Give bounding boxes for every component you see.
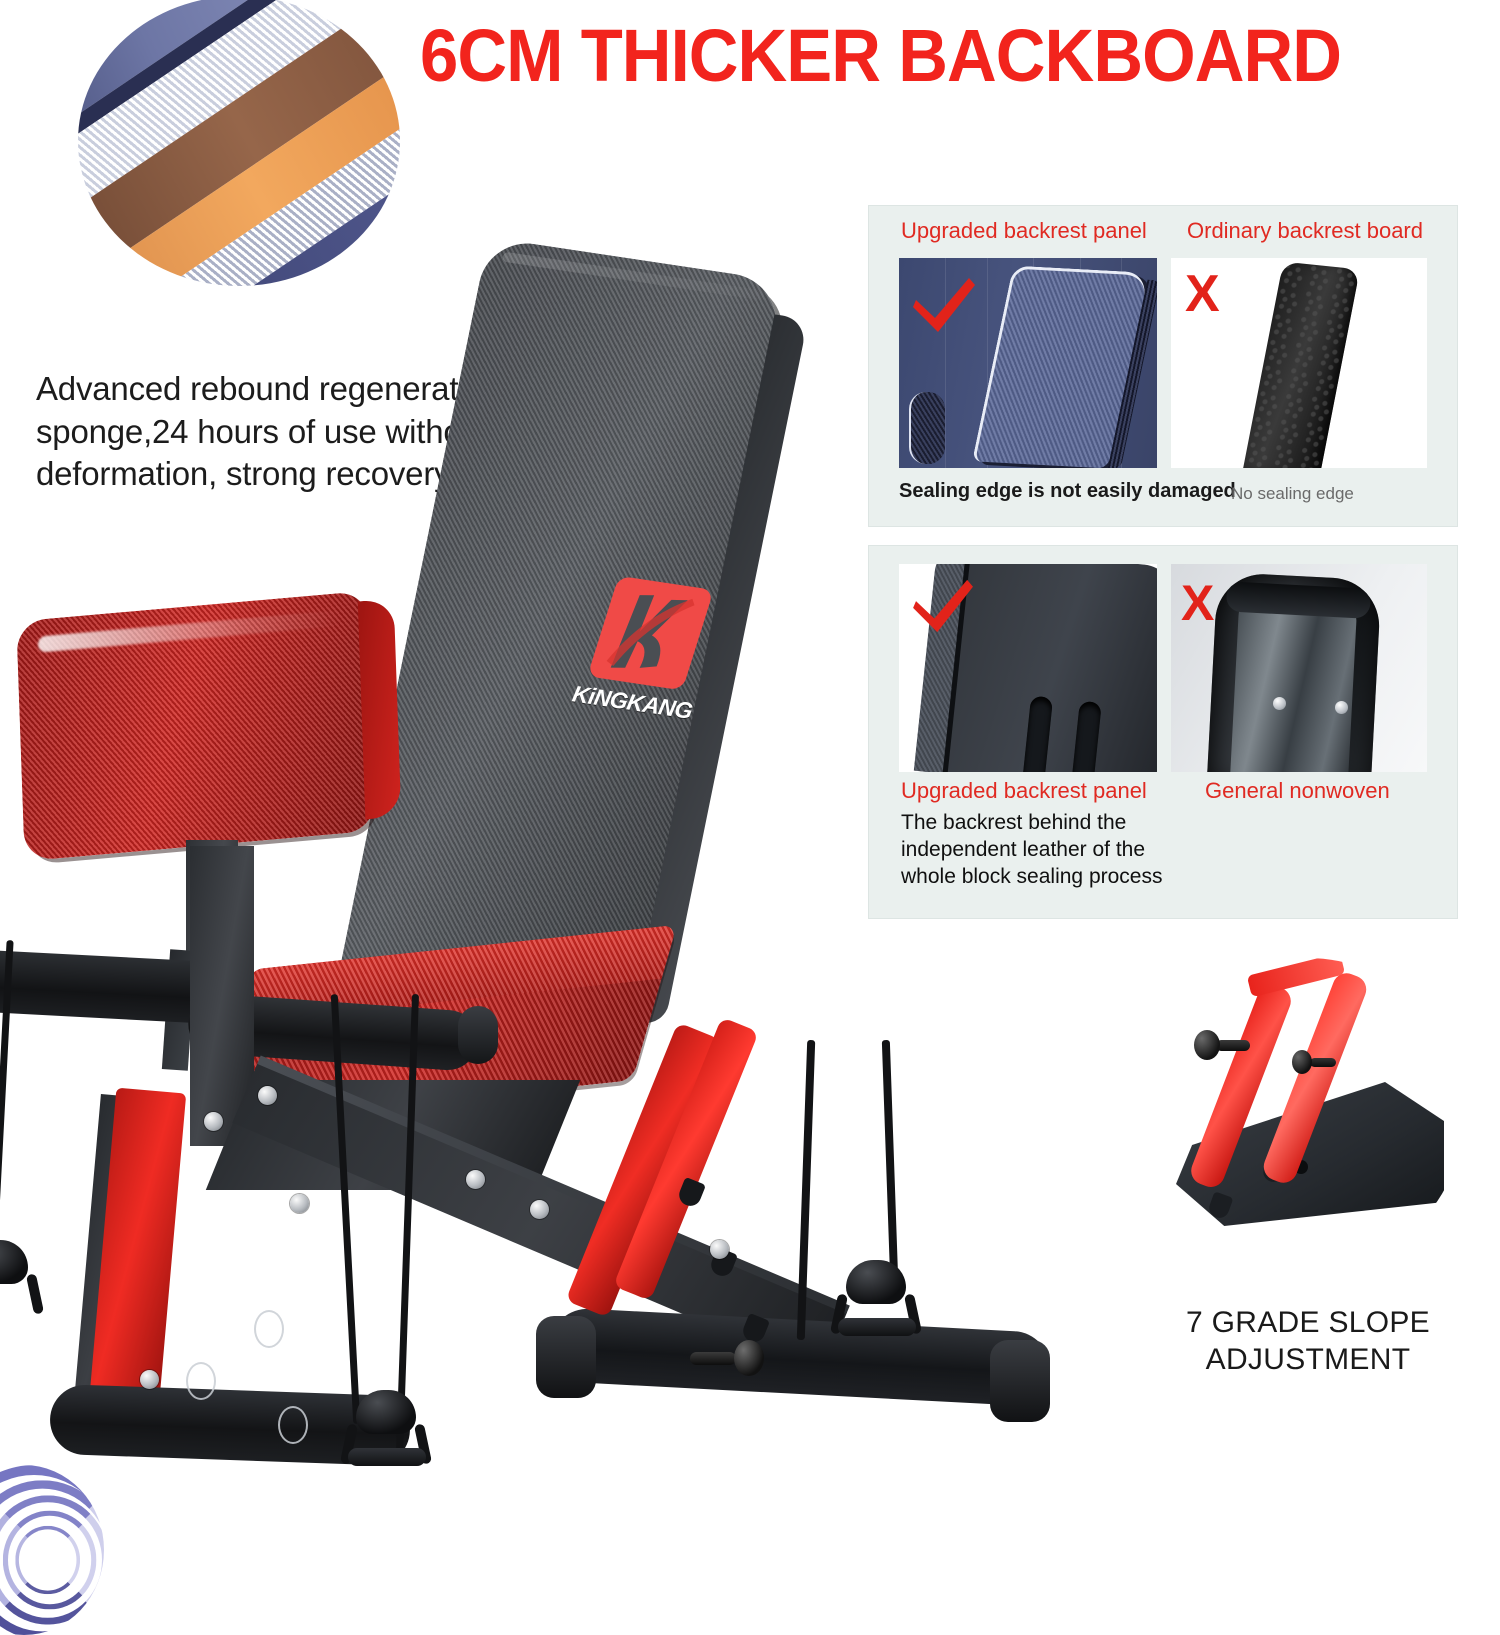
- frame-ring: [186, 1362, 216, 1400]
- logo-badge-icon: [587, 576, 714, 691]
- slope-knob-upper[interactable]: [1194, 1030, 1250, 1060]
- frame-bolt: [258, 1086, 277, 1105]
- roller-cap-b: [458, 1006, 498, 1064]
- comparison-bottom-left-caption: The backrest behind the independent leat…: [901, 810, 1181, 891]
- comparison-top-right-title: Ordinary backrest board: [1187, 218, 1423, 244]
- slope-caption-line-1: 7 GRADE SLOPE: [1140, 1305, 1476, 1342]
- photo-upgraded-backing: [899, 564, 1157, 772]
- material-layers-inset: [78, 0, 400, 286]
- upgraded-pad-shape: [972, 265, 1149, 468]
- knob-stem: [1216, 1040, 1250, 1051]
- backrest-highlight: [502, 252, 765, 301]
- curl-pad-rim: [358, 598, 402, 819]
- knob-cap: [1194, 1030, 1220, 1060]
- comparison-top-left-caption: Sealing edge is not easily damaged: [899, 480, 1236, 503]
- handle-grip-ball: [0, 1240, 28, 1284]
- resistance-band-cord: [882, 1040, 898, 1280]
- slope-adjustment-caption: 7 GRADE SLOPE ADJUSTMENT: [1140, 1305, 1476, 1378]
- resistance-band-handle[interactable]: [338, 1390, 434, 1462]
- nonwoven-fabric-shape: [1206, 572, 1381, 772]
- spring-coil-accent: [0, 1465, 104, 1635]
- board-slot: [1022, 695, 1053, 772]
- ordinary-pad-shape: [1243, 262, 1360, 468]
- photo-general-nonwoven: X: [1171, 564, 1427, 772]
- frame-bolt: [530, 1200, 549, 1219]
- knob-stem: [690, 1352, 736, 1365]
- handle-grip-bar: [838, 1318, 916, 1336]
- frame-bolt: [290, 1194, 309, 1213]
- handle-grip-ball: [846, 1260, 906, 1304]
- curl-pad-gloss: [38, 610, 341, 652]
- pad-hinge-knob: [909, 392, 945, 464]
- slope-adjustment-inset: [1152, 958, 1464, 1270]
- comparison-bottom-left-title: Upgraded backrest panel: [901, 778, 1147, 804]
- comparison-top-right-caption: No sealing edge: [1231, 484, 1354, 504]
- resistance-band-handle[interactable]: [828, 1260, 924, 1332]
- backrest-pad: [331, 237, 785, 1057]
- handle-grip-bar: [348, 1448, 426, 1466]
- product-infographic: 6CM THICKER BACKBOARD Advanced rebound r…: [0, 0, 1500, 1445]
- slope-caption-line-2: ADJUSTMENT: [1140, 1342, 1476, 1379]
- material-layer-stack: [78, 0, 400, 286]
- board-slot: [1070, 700, 1101, 772]
- x-icon: X: [1181, 578, 1214, 628]
- check-icon: [913, 578, 975, 634]
- frame-bolt: [466, 1170, 485, 1189]
- comparison-bottom-right-title: General nonwoven: [1205, 778, 1390, 804]
- knob-cap: [734, 1340, 764, 1376]
- frame-bolt: [140, 1370, 159, 1389]
- preacher-curl-pad: [16, 591, 376, 862]
- stabilizer-cap-right: [990, 1340, 1050, 1422]
- slope-knob-lower[interactable]: [1292, 1050, 1336, 1074]
- check-icon: [913, 276, 977, 334]
- comparison-top-left-title: Upgraded backrest panel: [901, 218, 1147, 244]
- incline-adjust-knob[interactable]: [690, 1340, 764, 1376]
- handle-grip-ball: [356, 1390, 416, 1434]
- resistance-band-handle[interactable]: [0, 1240, 46, 1312]
- stabilizer-cap-left: [536, 1316, 596, 1398]
- frame-ring: [254, 1310, 284, 1348]
- page-title: 6CM THICKER BACKBOARD: [420, 18, 1415, 93]
- photo-upgraded-sealing-edge: [899, 258, 1157, 468]
- x-icon: X: [1185, 268, 1220, 320]
- photo-ordinary-no-sealing-edge: X: [1171, 258, 1427, 468]
- comparison-panel-sealing-edge: Upgraded backrest panel Ordinary backres…: [868, 205, 1458, 527]
- handle-loop-right: [26, 1273, 44, 1314]
- comparison-panel-backing-material: X Upgraded backrest panel General nonwov…: [868, 545, 1458, 919]
- frame-ring: [278, 1406, 308, 1444]
- knob-stem: [1310, 1058, 1336, 1067]
- frame-bolt: [710, 1240, 729, 1259]
- frame-bolt: [204, 1112, 223, 1131]
- knob-cap: [1292, 1050, 1312, 1074]
